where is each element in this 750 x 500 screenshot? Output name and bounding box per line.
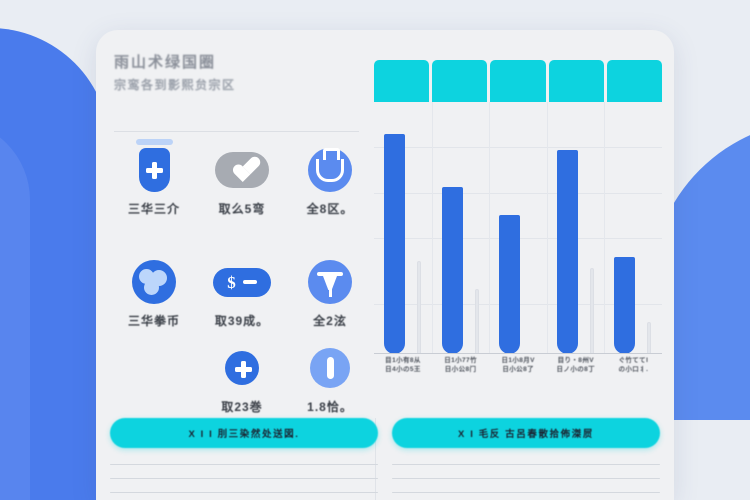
bottom-column-left: X I I 刖三染然处送図. [110,418,378,500]
icon-grid-item-label: 三华三介 [110,200,198,217]
chart-x-tick-label: ぐ竹ててlの小口丬. [605,356,661,374]
primary-cta-button-right[interactable]: X I 毛反 古呂春散拾佈滐屃 [392,418,660,448]
money-pill-icon: $ [198,254,286,310]
chart-gridline-vertical [432,102,433,354]
bar-chart: 目1小有8从日4小の5王日1小77竹日小公8门日1小8月V日小公8了目り・8州V… [374,60,662,405]
chart-bar-primary [442,187,463,354]
chart-plot-area [374,102,662,354]
capsule-icon [286,340,374,396]
chart-x-tick-label: 日1小8月V日小公8了 [490,356,546,374]
screenshot-root: 雨山术绿国圈 宗鸾各到影熙贠宗区 三华三介取么5弯全8区。三华拳币$取39成。全… [0,0,750,500]
chart-bar-secondary [417,261,421,354]
syringe-icon [286,254,374,310]
text-placeholder-line [392,464,660,465]
header-divider [114,131,359,132]
chart-bar-primary [557,150,578,354]
medicine-bottle-icon [110,142,198,198]
chart-header-cell [432,60,487,102]
bottom-section: X I I 刖三染然处送図. X I 毛反 古呂春散拾佈滐屃 [110,418,660,500]
text-placeholder-line [392,478,660,479]
chart-header-cell [374,60,429,102]
chart-x-axis-line [374,353,662,355]
first-aid-cross-icon [198,340,286,396]
icon-grid-item[interactable]: 三华拳币 [110,254,198,329]
main-card: 雨山术绿国圈 宗鸾各到影熙贠宗区 三华三介取么5弯全8区。三华拳币$取39成。全… [96,30,674,500]
icon-grid-item-label: 三华拳币 [110,312,198,329]
chart-bar-primary [384,134,405,354]
text-placeholder-lines-right [392,464,660,500]
chart-header-cell [549,60,604,102]
chart-header-row [374,60,662,102]
chart-x-tick-label: 目1小有8从日4小の5王 [375,356,431,374]
chart-bar-primary [614,257,635,354]
icon-grid-item[interactable]: $取39成。 [198,254,286,329]
heart-care-icon [198,142,286,198]
icon-grid-item[interactable]: 全2泫 [286,254,374,329]
chart-gridline-vertical [604,102,605,354]
icon-grid-item[interactable]: 取么5弯 [198,142,286,217]
chart-header-cell [490,60,545,102]
text-placeholder-line [110,478,378,479]
molecule-icon [110,254,198,310]
icon-grid-item[interactable]: 取23巻 [198,340,286,415]
icon-grid-item-label: 取39成。 [198,312,286,329]
text-placeholder-lines-left [110,464,378,500]
chart-bar-primary [499,215,520,354]
icon-grid-item-label: 取么5弯 [198,200,286,217]
chart-header-cell [607,60,662,102]
background-shape-left-soft [0,120,30,500]
chart-x-axis-labels: 目1小有8从日4小の5王日1小77竹日小公8门日1小8月V日小公8了目り・8州V… [374,356,662,386]
stethoscope-icon [286,142,374,198]
bottom-column-right: X I 毛反 古呂春散拾佈滐屃 [392,418,660,500]
chart-gridline-horizontal [374,193,662,194]
icon-grid-item-label: 全2泫 [286,312,374,329]
icon-grid-item[interactable]: 全8区。 [286,142,374,217]
text-placeholder-line [110,492,378,493]
card-header: 雨山术绿国圈 宗鸾各到影熙贠宗区 [114,54,364,93]
icon-grid-item[interactable]: 1.8恰。 [286,340,374,415]
text-placeholder-line [110,464,378,465]
icon-grid-item-label: 1.8恰。 [286,398,374,415]
chart-bar-secondary [590,268,594,354]
chart-x-tick-label: 日1小77竹日小公8门 [433,356,489,374]
chart-gridline-vertical [547,102,548,354]
chart-bar-secondary [647,322,651,354]
icon-grid-item-label: 全8区。 [286,200,374,217]
text-placeholder-line [392,492,660,493]
icon-grid-item-label: 取23巻 [198,398,286,415]
icon-grid-item[interactable]: 三华三介 [110,142,198,217]
chart-x-tick-label: 目り・8州V日ノ小の8丁 [548,356,604,374]
chart-gridline-vertical [489,102,490,354]
page-title: 雨山术绿国圈 [114,54,364,72]
chart-bar-secondary [475,289,479,354]
primary-cta-button-left[interactable]: X I I 刖三染然处送図. [110,418,378,448]
page-subtitle: 宗鸾各到影熙贠宗区 [114,78,364,93]
chart-gridline-horizontal [374,147,662,148]
